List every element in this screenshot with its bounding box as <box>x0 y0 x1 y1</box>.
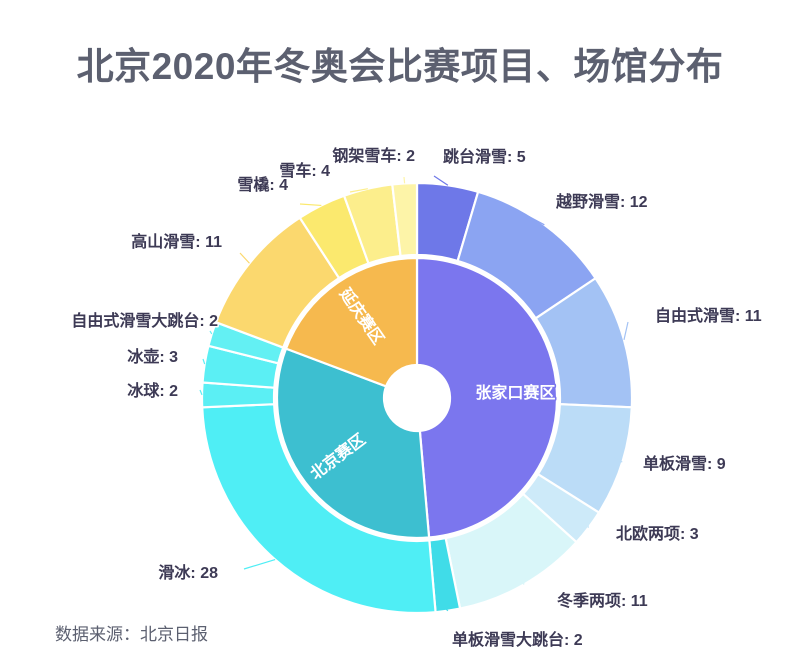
outer-ring-label: 钢架雪车: 2 <box>332 146 415 165</box>
outer-ring-label: 单板滑雪: 9 <box>643 454 726 473</box>
label-leader-line <box>300 204 321 205</box>
data-source-note: 数据来源：北京日报 <box>55 620 208 645</box>
sunburst-chart-page: 北京2020年冬奥会比赛项目、场馆分布 跳台滑雪: 5越野滑雪: 12自由式滑雪… <box>0 0 800 669</box>
outer-ring-label: 北欧两项: 3 <box>616 524 699 543</box>
outer-ring-label: 自由式滑雪: 11 <box>655 306 762 325</box>
outer-ring-label: 自由式滑雪大跳台: 2 <box>71 311 218 330</box>
label-leader-line <box>404 177 405 183</box>
outer-ring-label: 冰球: 2 <box>127 381 178 400</box>
outer-ring-label: 跳台滑雪: 5 <box>443 147 526 166</box>
sunburst-chart[interactable]: 跳台滑雪: 5越野滑雪: 12自由式滑雪: 11单板滑雪: 9北欧两项: 3冬季… <box>0 0 800 669</box>
outer-ring-label: 滑冰: 28 <box>158 563 218 582</box>
chart-center-hole <box>384 365 450 431</box>
outer-ring-label: 越野滑雪: 12 <box>555 192 648 211</box>
outer-ring-label: 冬季两项: 11 <box>557 591 648 610</box>
label-leader-line <box>240 253 249 263</box>
label-leader-line <box>244 560 275 569</box>
outer-ring-label: 高山滑雪: 11 <box>131 232 222 251</box>
label-leader-line <box>624 322 628 340</box>
inner-ring-label: 张家口赛区 <box>475 383 555 402</box>
outer-ring-label: 雪车: 4 <box>279 161 330 180</box>
outer-ring-label: 冰壶: 3 <box>127 347 178 366</box>
outer-ring-label: 单板滑雪大跳台: 2 <box>452 630 583 649</box>
